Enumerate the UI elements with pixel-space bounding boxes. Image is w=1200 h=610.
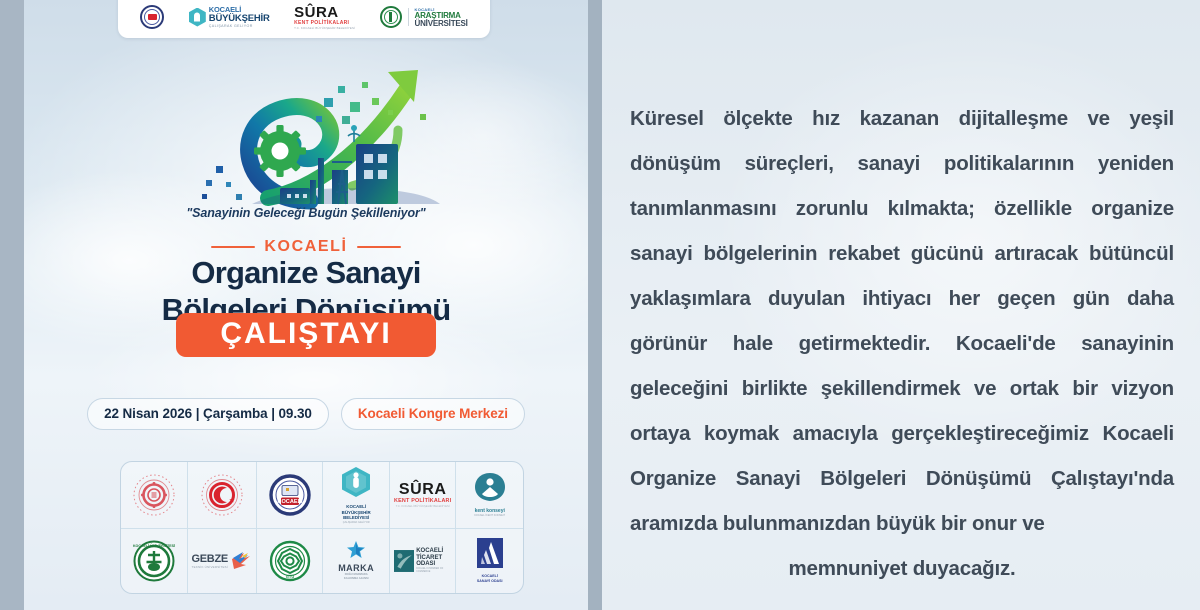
svg-text:KOCAELİ: KOCAELİ	[277, 498, 303, 505]
eyebrow-rule-left	[211, 246, 255, 249]
sponsor-kocaeli-valiligi: KOCAELİ	[257, 462, 324, 529]
sponsor-sura-kent-politikalari: SÛRA KENT POLİTİKALARI T.C. KOCAELİ BÜYÜ…	[390, 462, 457, 529]
event-venue-chip: Kocaeli Kongre Merkezi	[341, 398, 525, 430]
sura-sublabel-2: T.C. KOCAELİ BÜYÜKŞEHİR BELEDİYESİ	[294, 26, 355, 30]
sponsor-marka: MARKA DOĞU MARMARA KALKINMA AJANSI	[323, 529, 390, 594]
sura-sublabel: KENT POLİTİKALARI	[294, 20, 355, 26]
buyuksehir-sublabel: ÇALIŞARAK GELİYOR	[209, 24, 270, 28]
eyebrow-label: KOCAELİ	[264, 238, 347, 256]
header-logo-bar: KOCAELİ BÜYÜKŞEHİR ÇALIŞARAK GELİYOR SÛR…	[118, 0, 490, 38]
sura-sponsor-wordmark: SÛRA	[394, 482, 451, 498]
marka-wordmark: MARKA	[338, 564, 374, 573]
sura-wordmark: SÛRA	[294, 5, 355, 20]
poster-left-panel: KOCAELİ BÜYÜKŞEHİR ÇALIŞARAK GELİYOR SÛR…	[24, 0, 588, 610]
sura-kent-politikalari-logo: SÛRA KENT POLİTİKALARI T.C. KOCAELİ BÜYÜ…	[294, 5, 355, 30]
kocaeli-valiligi-seal	[140, 5, 164, 29]
sponsor-gebze-teknik-universitesi: GEBZE TEKNİK ÜNİVERSİTESİ	[188, 529, 257, 594]
eyebrow-kocaeli: KOCAELİ	[24, 238, 588, 256]
sponsor-sanayi-teknoloji-bakanligi	[121, 462, 188, 529]
event-meta-chips: 22 Nisan 2026 | Çarşamba | 09.30 Kocaeli…	[24, 398, 588, 430]
event-date-chip: 22 Nisan 2026 | Çarşamba | 09.30	[87, 398, 329, 430]
sponsor-gtu-green: GTÜ	[257, 529, 324, 594]
calistayi-badge: ÇALIŞTAYI	[176, 313, 435, 357]
sponsor-tc-devlet-armasi	[188, 462, 257, 529]
eyebrow-rule-right	[357, 246, 401, 249]
svg-text:GTÜ: GTÜ	[285, 574, 294, 579]
sponsor-kent-konseyi: kent konseyi KOCAELİ KENT KONSEYİ	[456, 462, 523, 529]
poster-right-panel: Küresel ölçekte hız kazanan dijitalleşme…	[602, 0, 1200, 610]
sponsor-kocaeli-sanayi-odasi: KOCAELİ SANAYİ ODASI	[456, 529, 523, 594]
sponsor-kocaeli-universitesi: KOCAELİ ÜNİVERSİTESİ	[121, 529, 188, 594]
headline-line-1: Organize Sanayi	[24, 255, 588, 292]
sponsor-kocaeli-buyuksehir-belediyesi: KOCAELİ BÜYÜKŞEHİR BELEDİYESİ ÇALIŞARAK …	[323, 462, 390, 529]
buyuksehir-hex-icon	[189, 8, 206, 27]
logo-divider	[408, 8, 409, 26]
invitation-paragraph: Küresel ölçekte hız kazanan dijitalleşme…	[630, 107, 1174, 535]
invitation-last-line: memnuniyet duyacağız.	[630, 546, 1174, 591]
sura-sponsor-sub: KENT POLİTİKALARI	[394, 498, 451, 504]
slogan-text: "Sanayinin Geleceği Bugün Şekilleniyor"	[24, 206, 588, 220]
arastirma-label-3: ÜNİVERSİTESİ	[415, 20, 468, 28]
invitation-body-text: Küresel ölçekte hız kazanan dijitalleşme…	[630, 96, 1174, 591]
kocaeli-arastirma-universitesi-logo: KOCAELİ ARAŞTIRMA ÜNİVERSİTESİ	[380, 6, 468, 28]
sponsor-kocaeli-ticaret-odasi: KOCAELİ TİCARET ODASI KOCAELI CHAMBER OF…	[390, 529, 457, 594]
svg-text:KOCAELİ ÜNİVERSİTESİ: KOCAELİ ÜNİVERSİTESİ	[133, 543, 175, 548]
kso-line2: SANAYİ ODASI	[477, 579, 503, 583]
kocaeli-buyuksehir-logo: KOCAELİ BÜYÜKŞEHİR ÇALIŞARAK GELİYOR	[189, 6, 270, 28]
buyuksehir-sponsor-line3: BELEDİYESİ	[341, 515, 371, 521]
gebze-wordmark: GEBZE	[192, 553, 228, 565]
buyuksehir-label-2: BÜYÜKŞEHİR	[209, 14, 270, 24]
calistayi-pill-wrap: ÇALIŞTAYI	[24, 313, 588, 357]
panel-divider	[588, 0, 602, 610]
industry-digital-growth-arrow-icon	[192, 58, 492, 228]
poster-root: KOCAELİ BÜYÜKŞEHİR ÇALIŞARAK GELİYOR SÛR…	[0, 0, 1200, 610]
sponsor-logo-grid: KOCAELİ KOCAELİ BÜYÜKŞEHİR BELEDİYESİ	[120, 461, 524, 594]
